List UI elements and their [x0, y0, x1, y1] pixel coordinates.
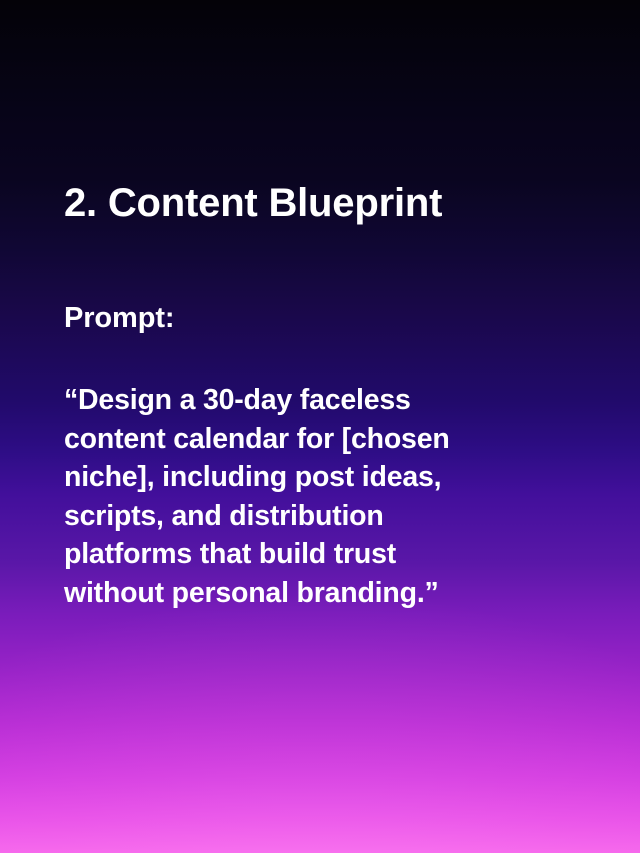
prompt-text: “Design a 30-day faceless content calend…: [64, 381, 474, 612]
slide-canvas: 2. Content Blueprint Prompt: “Design a 3…: [0, 0, 640, 853]
prompt-label: Prompt:: [64, 300, 174, 336]
page-title: 2. Content Blueprint: [64, 180, 442, 226]
